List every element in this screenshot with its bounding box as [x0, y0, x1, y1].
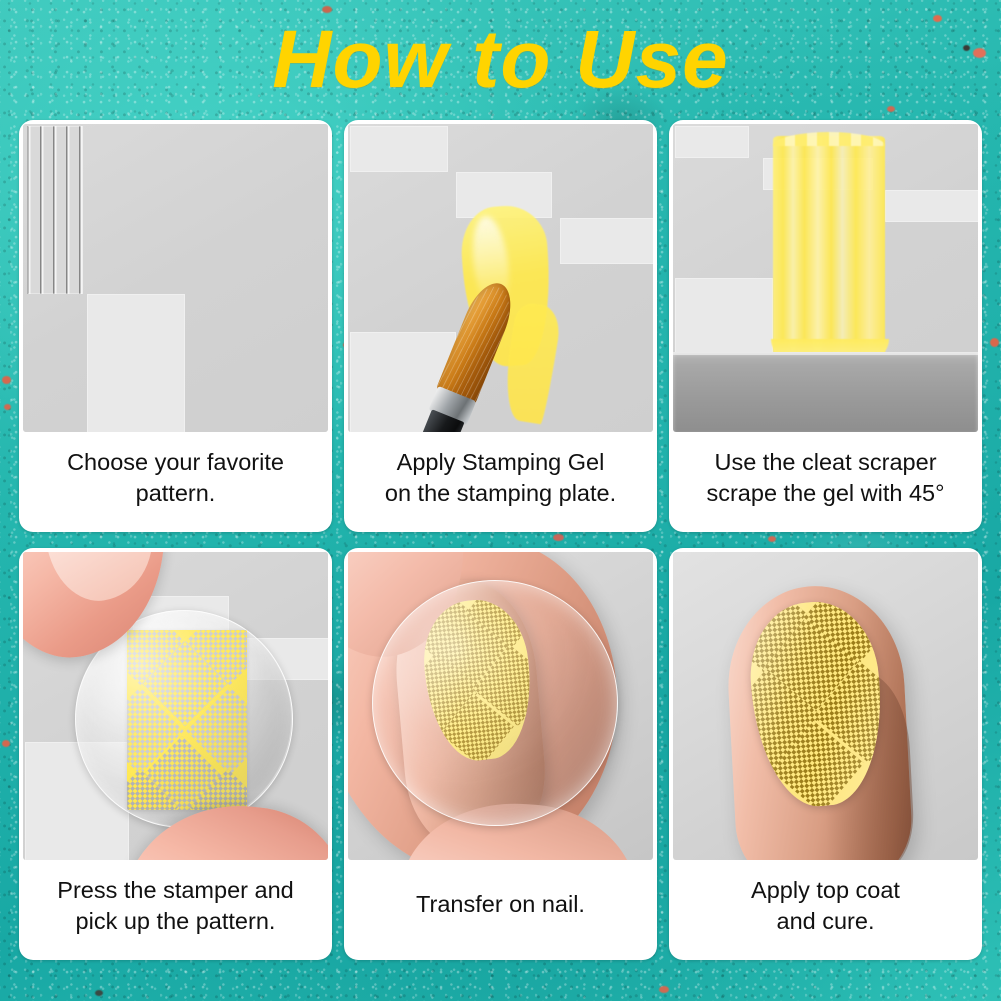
step-5-caption: Transfer on nail.: [348, 860, 653, 960]
step-2-image: [348, 124, 653, 432]
step-2-caption: Apply Stamping Gel on the stamping plate…: [348, 432, 653, 532]
step-6-caption: Apply top coat and cure.: [673, 860, 978, 960]
plate-cell-squares: [560, 218, 653, 264]
background-speck: [2, 376, 11, 384]
background-speck: [4, 404, 11, 410]
step-card-1[interactable]: Choose your favorite pattern.: [19, 120, 332, 532]
step-card-5[interactable]: Transfer on nail.: [344, 548, 657, 960]
plate-cell-vlines: [27, 126, 83, 294]
step-card-4[interactable]: Press the stamper and pick up the patter…: [19, 548, 332, 960]
plate-cell-hatch: [350, 126, 448, 172]
step-6-image: [673, 552, 978, 860]
background-speck: [990, 338, 999, 347]
scraper-edge-highlight: [673, 352, 978, 355]
step-5-image: [348, 552, 653, 860]
picked-up-pattern: [127, 630, 247, 810]
step-1-image: [23, 124, 328, 432]
step-card-6[interactable]: Apply top coat and cure.: [669, 548, 982, 960]
step-card-3[interactable]: Use the cleat scraper scrape the gel wit…: [669, 120, 982, 532]
step-4-image: [23, 552, 328, 860]
background-speck: [659, 986, 669, 993]
top-coat-shine: [744, 597, 889, 811]
gel-scrape-streaks: [773, 136, 885, 368]
step-4-caption: Press the stamper and pick up the patter…: [23, 860, 328, 960]
plate-cell-squares: [885, 190, 978, 222]
fingernail: [744, 597, 889, 811]
background-speck: [2, 740, 10, 747]
step-card-2[interactable]: Apply Stamping Gel on the stamping plate…: [344, 120, 657, 532]
step-1-caption: Choose your favorite pattern.: [23, 432, 328, 532]
steps-grid: Choose your favorite pattern.: [19, 120, 982, 960]
page-title: How to Use: [0, 8, 1001, 112]
clear-stamper-head: [372, 580, 618, 826]
step-3-caption: Use the cleat scraper scrape the gel wit…: [673, 432, 978, 532]
step-3-image: [673, 124, 978, 432]
background-speck: [95, 990, 103, 996]
plate-cell-hatch: [675, 126, 749, 158]
plate-cell-diamond-lattice: [87, 294, 185, 432]
cleat-scraper: [673, 352, 978, 432]
